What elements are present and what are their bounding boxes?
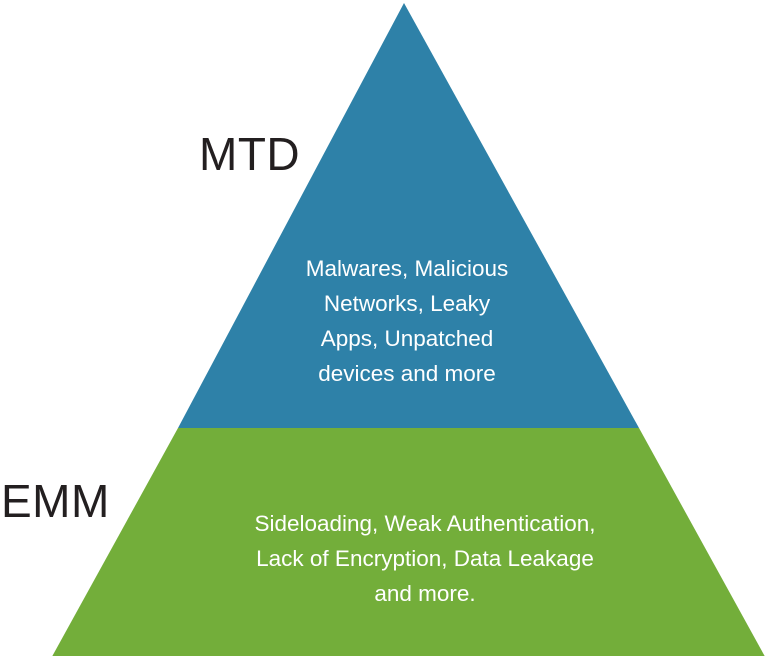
emm-text-line: Lack of Encryption, Data Leakage xyxy=(0,541,768,576)
emm-text-line: Sideloading, Weak Authentication, xyxy=(0,506,768,541)
mtd-tier-label: MTD xyxy=(199,131,300,177)
pyramid-diagram: MTD EMM Malwares, Malicious Networks, Le… xyxy=(0,0,768,656)
emm-tier-text: Sideloading, Weak Authentication, Lack o… xyxy=(0,506,768,611)
mtd-text-line: Malwares, Malicious xyxy=(0,251,768,286)
mtd-text-line: devices and more xyxy=(0,356,768,391)
mtd-tier-text: Malwares, Malicious Networks, Leaky Apps… xyxy=(0,251,768,391)
mtd-text-line: Apps, Unpatched xyxy=(0,321,768,356)
mtd-text-line: Networks, Leaky xyxy=(0,286,768,321)
emm-text-line: and more. xyxy=(0,576,768,611)
